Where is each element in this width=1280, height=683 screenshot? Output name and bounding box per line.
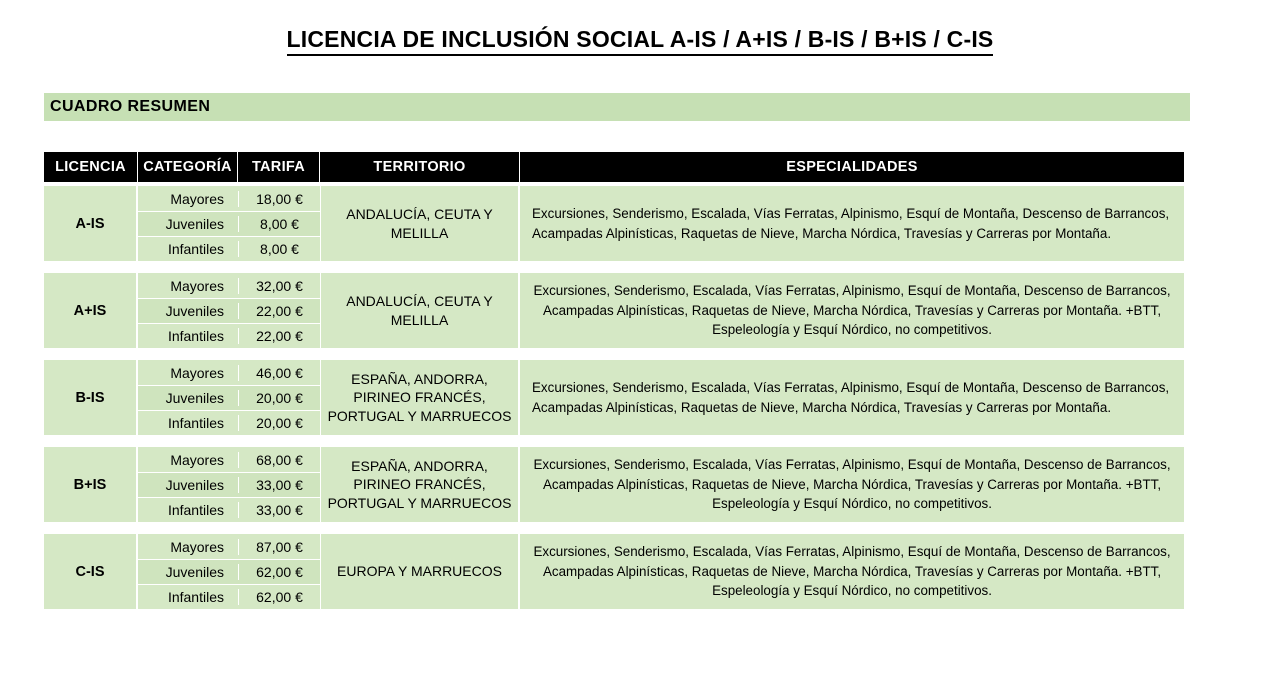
table-row: Infantiles33,00 €: [138, 497, 320, 522]
cell-tarifa: 8,00 €: [238, 216, 320, 232]
page-title-text: LICENCIA DE INCLUSIÓN SOCIAL A-IS / A+IS…: [287, 26, 994, 56]
cell-tarifa: 62,00 €: [238, 589, 320, 605]
cell-tarifa: 32,00 €: [238, 278, 320, 294]
categoria-tarifa-group: Mayores32,00 €Juveniles22,00 €Infantiles…: [138, 273, 320, 348]
cell-especialidades: Excursiones, Senderismo, Escalada, Vías …: [520, 273, 1184, 348]
table-row: Mayores87,00 €: [138, 534, 320, 559]
table-row: Juveniles22,00 €: [138, 298, 320, 323]
cell-categoria: Juveniles: [138, 477, 238, 493]
cell-categoria: Infantiles: [138, 589, 238, 605]
cell-territorio: ANDALUCÍA, CEUTA Y MELILLA: [320, 186, 520, 261]
table-row: Infantiles8,00 €: [138, 236, 320, 261]
tariff-table: LICENCIA CATEGORÍA TARIFA TERRITORIO ESP…: [44, 152, 1184, 609]
table-row: Juveniles33,00 €: [138, 472, 320, 497]
table-row: Mayores46,00 €: [138, 360, 320, 385]
cell-categoria: Juveniles: [138, 303, 238, 319]
license-block: B-ISMayores46,00 €Juveniles20,00 €Infant…: [44, 360, 1184, 435]
cell-tarifa: 33,00 €: [238, 477, 320, 493]
license-block: C-ISMayores87,00 €Juveniles62,00 €Infant…: [44, 534, 1184, 609]
column-header-licencia: LICENCIA: [44, 152, 138, 182]
license-block: B+ISMayores68,00 €Juveniles33,00 €Infant…: [44, 447, 1184, 522]
cell-tarifa: 87,00 €: [238, 539, 320, 555]
table-row: Mayores32,00 €: [138, 273, 320, 298]
cell-licencia: A+IS: [44, 273, 138, 348]
table-header-row: LICENCIA CATEGORÍA TARIFA TERRITORIO ESP…: [44, 152, 1184, 182]
document-page: LICENCIA DE INCLUSIÓN SOCIAL A-IS / A+IS…: [0, 0, 1280, 683]
cell-categoria: Mayores: [138, 278, 238, 294]
cell-especialidades: Excursiones, Senderismo, Escalada, Vías …: [520, 360, 1184, 435]
column-header-especialidades: ESPECIALIDADES: [520, 152, 1184, 182]
license-block: A+ISMayores32,00 €Juveniles22,00 €Infant…: [44, 273, 1184, 348]
cell-tarifa: 68,00 €: [238, 452, 320, 468]
cell-categoria: Mayores: [138, 191, 238, 207]
cell-categoria: Juveniles: [138, 216, 238, 232]
cell-categoria: Infantiles: [138, 502, 238, 518]
cell-tarifa: 20,00 €: [238, 390, 320, 406]
table-row: Mayores18,00 €: [138, 186, 320, 211]
cell-territorio: EUROPA Y MARRUECOS: [320, 534, 520, 609]
cell-territorio: ANDALUCÍA, CEUTA Y MELILLA: [320, 273, 520, 348]
cell-categoria: Infantiles: [138, 328, 238, 344]
cell-tarifa: 22,00 €: [238, 303, 320, 319]
cell-tarifa: 33,00 €: [238, 502, 320, 518]
cell-licencia: B+IS: [44, 447, 138, 522]
table-body: A-ISMayores18,00 €Juveniles8,00 €Infanti…: [44, 186, 1184, 609]
cell-categoria: Mayores: [138, 539, 238, 555]
table-row: Infantiles62,00 €: [138, 584, 320, 609]
categoria-tarifa-group: Mayores68,00 €Juveniles33,00 €Infantiles…: [138, 447, 320, 522]
cell-especialidades: Excursiones, Senderismo, Escalada, Vías …: [520, 186, 1184, 261]
table-row: Mayores68,00 €: [138, 447, 320, 472]
table-row: Juveniles62,00 €: [138, 559, 320, 584]
cell-licencia: C-IS: [44, 534, 138, 609]
cell-tarifa: 20,00 €: [238, 415, 320, 431]
cell-categoria: Mayores: [138, 365, 238, 381]
column-header-categoria: CATEGORÍA: [138, 152, 238, 182]
table-row: Juveniles20,00 €: [138, 385, 320, 410]
cell-categoria: Infantiles: [138, 241, 238, 257]
cell-territorio: ESPAÑA, ANDORRA, PIRINEO FRANCÉS, PORTUG…: [320, 447, 520, 522]
cell-licencia: B-IS: [44, 360, 138, 435]
cell-tarifa: 22,00 €: [238, 328, 320, 344]
page-title: LICENCIA DE INCLUSIÓN SOCIAL A-IS / A+IS…: [0, 26, 1280, 53]
cell-tarifa: 46,00 €: [238, 365, 320, 381]
cell-categoria: Mayores: [138, 452, 238, 468]
cell-tarifa: 8,00 €: [238, 241, 320, 257]
cell-licencia: A-IS: [44, 186, 138, 261]
section-header-label: CUADRO RESUMEN: [44, 98, 210, 116]
cell-categoria: Infantiles: [138, 415, 238, 431]
table-row: Juveniles8,00 €: [138, 211, 320, 236]
categoria-tarifa-group: Mayores46,00 €Juveniles20,00 €Infantiles…: [138, 360, 320, 435]
cell-categoria: Juveniles: [138, 564, 238, 580]
categoria-tarifa-group: Mayores87,00 €Juveniles62,00 €Infantiles…: [138, 534, 320, 609]
license-block: A-ISMayores18,00 €Juveniles8,00 €Infanti…: [44, 186, 1184, 261]
categoria-tarifa-group: Mayores18,00 €Juveniles8,00 €Infantiles8…: [138, 186, 320, 261]
cell-categoria: Juveniles: [138, 390, 238, 406]
table-row: Infantiles22,00 €: [138, 323, 320, 348]
cell-territorio: ESPAÑA, ANDORRA, PIRINEO FRANCÉS, PORTUG…: [320, 360, 520, 435]
column-header-territorio: TERRITORIO: [320, 152, 520, 182]
cell-tarifa: 62,00 €: [238, 564, 320, 580]
table-row: Infantiles20,00 €: [138, 410, 320, 435]
column-header-tarifa: TARIFA: [238, 152, 320, 182]
cell-especialidades: Excursiones, Senderismo, Escalada, Vías …: [520, 447, 1184, 522]
section-header-cuadro-resumen: CUADRO RESUMEN: [44, 93, 1190, 121]
cell-tarifa: 18,00 €: [238, 191, 320, 207]
cell-especialidades: Excursiones, Senderismo, Escalada, Vías …: [520, 534, 1184, 609]
